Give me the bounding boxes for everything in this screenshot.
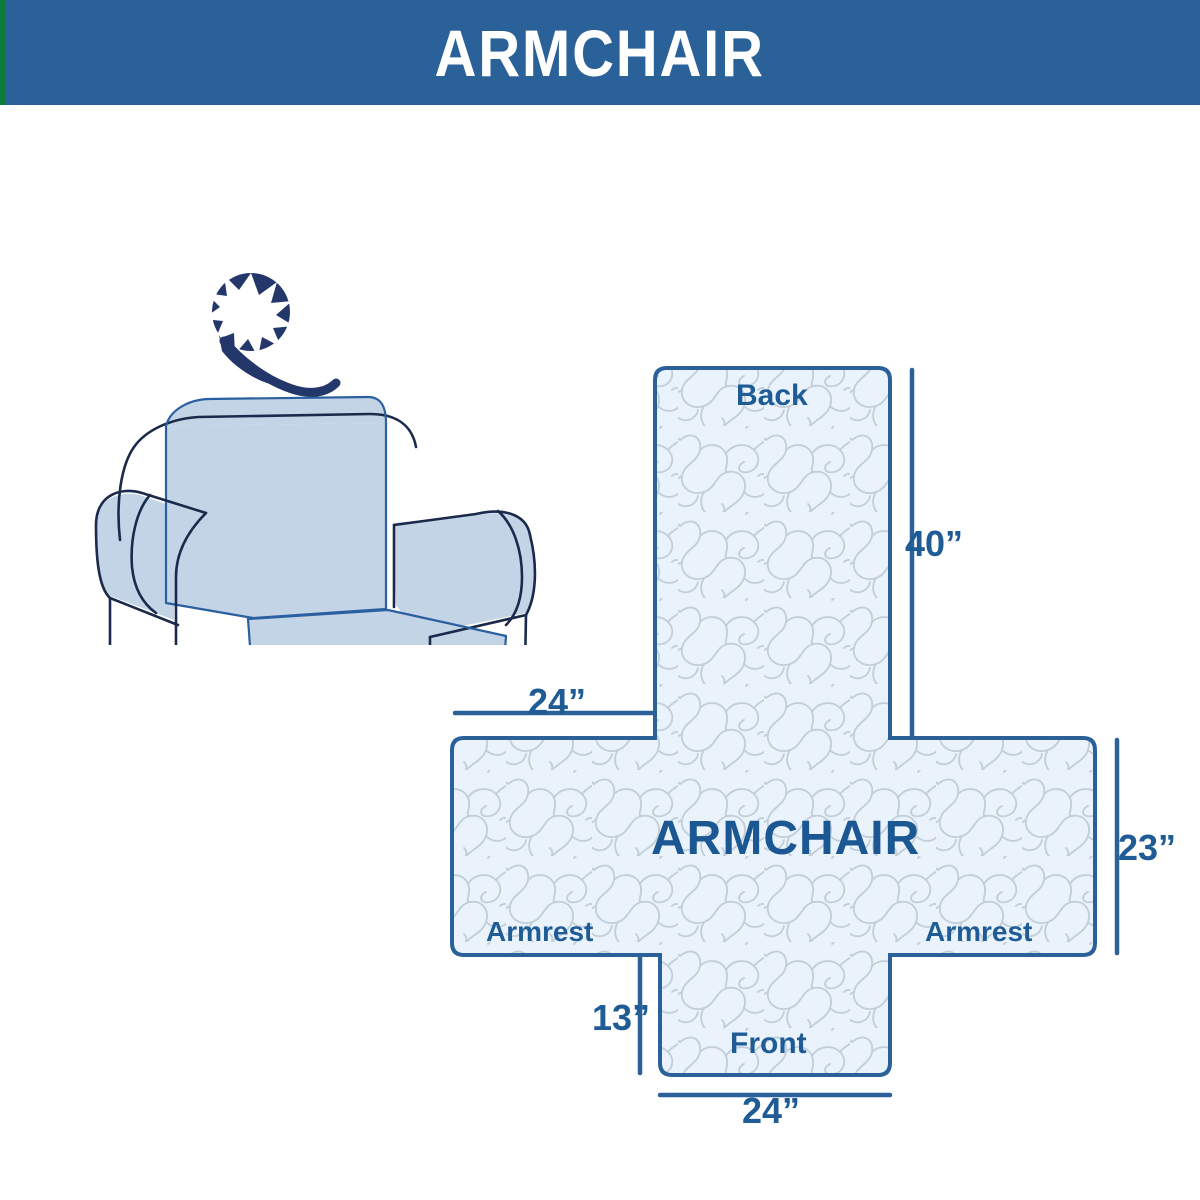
- panel-label-armrest-left: Armrest: [486, 918, 593, 946]
- panel-label-front: Front: [730, 1029, 807, 1059]
- panel-label-center: ARMCHAIR: [651, 815, 920, 863]
- dimension-label-front-height: 13”: [592, 1000, 650, 1036]
- dimension-label-arm-height: 23”: [1118, 830, 1176, 866]
- q-starburst-logo-shapes: [203, 273, 336, 392]
- header-banner: ARMCHAIR: [0, 0, 1200, 105]
- panel-label-back: Back: [736, 381, 808, 411]
- product-dimension-infographic: ARMCHAIR: [0, 0, 1200, 1200]
- page-title: ARMCHAIR: [435, 20, 765, 86]
- dimension-label-back-width: 24”: [528, 684, 586, 720]
- header-accent-stripe: [0, 0, 5, 105]
- cover-layout-diagram: [420, 340, 1180, 1130]
- dimension-label-front-width: 24”: [742, 1093, 800, 1129]
- panel-label-armrest-right: Armrest: [925, 918, 1032, 946]
- dimension-label-back-height: 40”: [905, 526, 963, 562]
